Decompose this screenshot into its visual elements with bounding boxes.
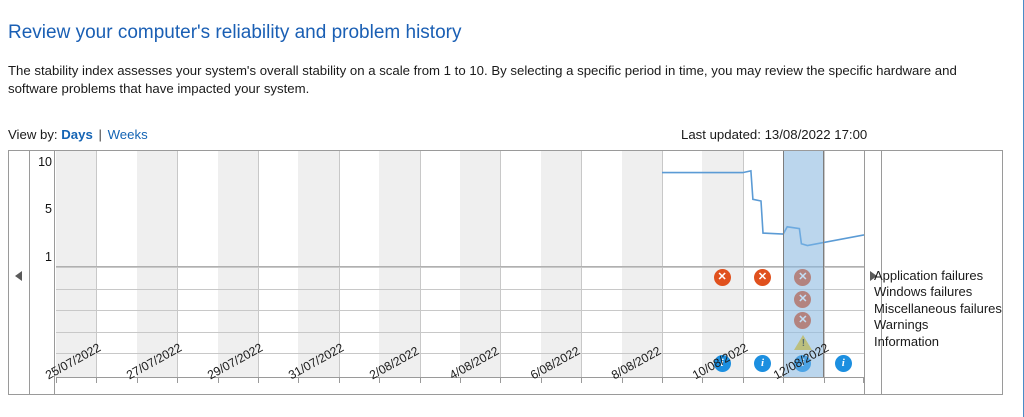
view-by-label: View by: <box>8 127 58 142</box>
plot-area[interactable]: ✕✕✕✕✕!iiii <box>56 151 864 394</box>
y-axis-tick-10: 10 <box>38 156 52 168</box>
scroll-left-button[interactable] <box>9 151 30 394</box>
left-triangle-icon <box>15 271 22 281</box>
event-row-divider <box>56 332 864 333</box>
event-icon-grid: ✕✕✕✕✕!iiii <box>56 267 864 377</box>
error-circle-icon: ✕ <box>714 269 731 286</box>
last-updated-text: Last updated: 13/08/2022 17:00 <box>681 127 867 142</box>
stability-index-graph <box>56 151 864 264</box>
x-axis-labels: 25/07/202227/07/202229/07/202231/07/2022… <box>55 370 915 417</box>
reliability-monitor-page: Review your computer's reliability and p… <box>0 0 1024 417</box>
view-by-weeks-link[interactable]: Weeks <box>108 127 148 142</box>
error-icon[interactable]: ✕ <box>714 269 732 287</box>
legend-item-miscellaneous-failures: Miscellaneous failures <box>874 301 1014 317</box>
y-axis-tick-1: 1 <box>45 251 52 263</box>
legend-item-windows-failures: Windows failures <box>874 284 1014 300</box>
event-row-divider <box>56 267 864 268</box>
view-by-control: View by: Days | Weeks <box>8 127 148 142</box>
legend-item-information: Information <box>874 334 1014 350</box>
page-title: Review your computer's reliability and p… <box>8 22 461 44</box>
event-row-divider <box>56 289 864 290</box>
intro-description: The stability index assesses your system… <box>8 62 1003 98</box>
legend-item-warnings: Warnings <box>874 317 1014 333</box>
y-axis: 1051 <box>31 151 55 394</box>
error-icon[interactable]: ✕ <box>754 269 772 287</box>
y-axis-tick-5: 5 <box>45 203 52 215</box>
legend: Application failuresWindows failuresMisc… <box>874 268 1014 350</box>
legend-item-application-failures: Application failures <box>874 268 1014 284</box>
error-circle-icon: ✕ <box>754 269 771 286</box>
view-by-separator: | <box>96 127 103 142</box>
event-row-divider <box>56 310 864 311</box>
view-by-days-link[interactable]: Days <box>61 127 93 142</box>
